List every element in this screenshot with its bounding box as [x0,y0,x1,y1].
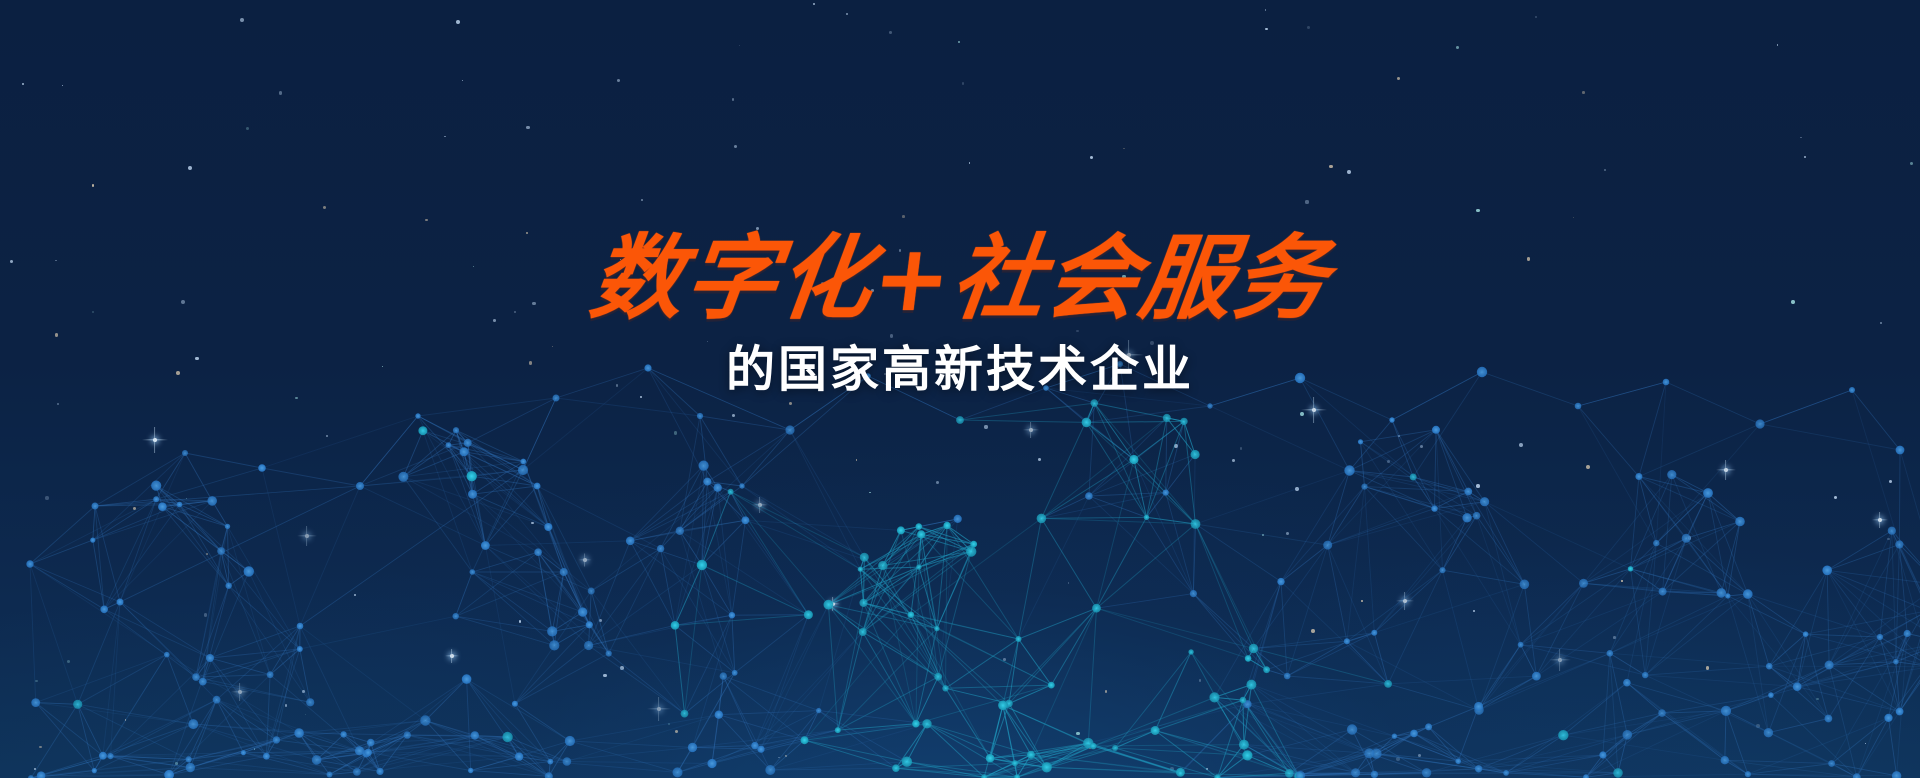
mesh-node [858,567,863,572]
mesh-node [956,416,964,424]
star-dot [526,126,530,130]
mesh-node [878,561,887,570]
mesh-node [468,768,473,773]
star-dot [958,41,960,43]
star-dot [456,20,460,24]
mesh-node [453,613,459,619]
mesh-node [1768,692,1774,698]
mesh-node [1764,728,1773,737]
mesh-node [1877,634,1883,640]
mesh-node [1682,534,1691,543]
mesh-node [1361,484,1367,490]
mesh-node [1042,762,1052,772]
mesh-node [916,523,923,530]
mesh-node [824,600,834,610]
mesh-node [1474,702,1483,711]
mesh-node [1575,403,1582,410]
mesh-node [673,767,683,777]
hero-copy-block: 数字化+社会服务 的国家高新技术企业 [0,232,1920,399]
mesh-node [244,566,254,576]
mesh-node [468,490,477,499]
mesh-node [462,674,472,684]
mesh-node [226,583,232,589]
mesh-node [100,606,108,614]
mesh-node [720,672,727,679]
mesh-node [751,742,758,749]
mesh-node [534,483,541,490]
mesh-node [703,478,711,486]
mesh-node [1558,730,1568,740]
mesh-node [1828,760,1835,767]
mesh-node [1239,740,1249,750]
mesh-node [1207,403,1212,408]
mesh-node [1144,515,1149,520]
mesh-node [1628,566,1633,571]
mesh-node [446,442,452,448]
mesh-node [1180,418,1187,425]
mesh-node [697,413,703,419]
mesh-node [1659,588,1667,596]
mesh-node [1623,679,1631,687]
mesh-node [327,772,333,778]
mesh-node [728,489,734,495]
mesh-node [415,413,420,418]
star-dot [969,162,971,164]
mesh-node [816,708,821,713]
mesh-node [1284,673,1291,680]
star-dot [1476,209,1479,212]
star-dot [1800,137,1801,138]
mesh-node [258,464,266,472]
mesh-node [626,537,635,546]
mesh-node [306,698,314,706]
mesh-node [90,538,95,543]
mesh-node [908,612,914,618]
mesh-node [1743,589,1753,599]
mesh-node [1384,680,1392,688]
star-dot [962,82,965,85]
mesh-node [376,768,383,775]
mesh-node [954,515,962,523]
star-dot [1307,26,1310,29]
mesh-node [464,439,472,447]
star-dot [1535,16,1537,18]
mesh-node [92,503,99,510]
mesh-node [860,553,869,562]
mesh-node [1364,748,1374,758]
mesh-node [182,450,188,456]
mesh-node [1635,473,1642,480]
mesh-node [1667,470,1676,479]
star-dot [739,45,740,46]
mesh-node [1371,771,1378,778]
mesh-node [534,548,542,556]
mesh-node [206,654,214,662]
star-dot [846,13,848,15]
mesh-node [1766,663,1773,670]
star-dot [813,3,815,5]
mesh-node [1464,488,1472,496]
mesh-node [186,763,195,772]
mesh-node [188,719,198,729]
mesh-node [199,678,207,686]
mesh-node [1793,682,1802,691]
mesh-node [515,752,523,760]
mesh-node [1410,730,1418,738]
mesh-node [739,483,744,488]
star-dot [444,136,446,138]
mesh-node [1607,650,1614,657]
mesh-node [164,652,170,658]
hero-banner: 数字化+社会服务 的国家高新技术企业 [0,0,1920,778]
mesh-node [1803,631,1809,637]
mesh-node [1579,579,1588,588]
mesh-node [225,524,230,529]
mesh-node [37,771,46,778]
mesh-node [547,626,557,636]
mesh-node [192,673,200,681]
mesh-node [297,646,303,652]
star-dot [22,83,24,85]
mesh-node [715,711,723,719]
mesh-node [26,560,33,567]
mesh-node [1358,439,1363,444]
mesh-node [177,502,183,508]
star-dot [641,199,643,201]
mesh-node [1893,659,1899,665]
star-dot [1910,162,1914,166]
mesh-node [502,732,512,742]
mesh-node [998,701,1008,711]
mesh-node [578,607,587,616]
mesh-node [398,472,408,482]
mesh-node [835,727,841,733]
mesh-node [1191,450,1200,459]
mesh-node [1240,697,1247,704]
mesh-node [1896,446,1905,455]
mesh-node [297,623,304,630]
mesh-node [560,568,568,576]
star-dot [188,166,192,170]
mesh-node [1112,745,1118,751]
star-dot [1456,46,1460,50]
mesh-node [1178,771,1184,777]
mesh-node [267,671,274,678]
mesh-node [1091,399,1099,407]
mesh-node [544,523,552,531]
mesh-node [1653,540,1659,546]
mesh-node [970,541,977,548]
mesh-node [153,496,159,502]
mesh-node [1263,666,1270,673]
page-title: 数字化+社会服务 [0,232,1920,326]
star-dot [1573,217,1574,218]
mesh-node [588,588,595,595]
network-mesh-graphic [0,358,1920,778]
mesh-node [966,546,976,556]
star-dot [1804,156,1807,159]
mesh-node [897,526,905,534]
star-dot [425,219,427,221]
mesh-node [512,701,518,707]
mesh-node [1825,715,1833,723]
mesh-node [742,516,750,524]
mesh-node [1888,527,1896,535]
star-dot [1329,165,1332,168]
mesh-node [1439,567,1445,573]
star-dot [62,85,63,86]
mesh-node [1016,636,1022,642]
mesh-node [420,715,430,725]
mesh-node [367,739,375,747]
mesh-node [547,759,553,765]
mesh-node [1277,578,1284,585]
mesh-node [1480,497,1489,506]
mesh-node [1895,540,1903,548]
mesh-node [1190,590,1197,597]
mesh-node [1425,723,1432,730]
mesh-node [1473,512,1481,520]
mesh-node [1503,770,1509,776]
star-dot [1090,156,1094,160]
mesh-node [1082,418,1092,428]
mesh-node [676,527,684,535]
mesh-node [453,427,459,433]
mesh-node [1323,541,1332,550]
star-dot [246,127,249,130]
star-dot [462,80,464,82]
mesh-node [99,752,107,760]
page-subtitle: 的国家高新技术企业 [0,340,1920,399]
mesh-node [470,569,476,575]
mesh-node [699,461,709,471]
mesh-node [92,768,97,773]
mesh-node [263,753,270,760]
mesh-node [1735,517,1745,527]
mesh-node [714,484,722,492]
mesh-node [916,564,921,569]
mesh-node [1344,638,1350,644]
mesh-node [151,481,161,491]
mesh-node [404,731,411,738]
mesh-node [1721,756,1729,764]
mesh-node [986,754,995,763]
mesh-node [549,640,559,650]
mesh-node [765,765,775,775]
mesh-node [1242,750,1252,760]
mesh-node [917,530,925,538]
mesh-node [1475,765,1482,772]
star-dot [617,79,620,82]
mesh-node [1048,682,1055,689]
mesh-node [1351,768,1360,777]
mesh-node [1245,655,1252,662]
mesh-node [518,465,528,475]
mesh-node [1884,714,1892,722]
mesh-node [1725,593,1730,598]
mesh-node [1623,730,1633,740]
mesh-node [1037,514,1047,524]
mesh-node [688,743,697,752]
mesh-node [117,599,124,606]
star-dot [240,18,244,22]
mesh-node [471,731,479,739]
mesh-node [902,757,912,767]
mesh-node [73,700,82,709]
mesh-node [1703,488,1713,498]
mesh-node [1090,743,1097,750]
star-dot [734,145,737,148]
mesh-node [467,471,477,481]
mesh-node [804,610,813,619]
mesh-node [1092,604,1101,613]
mesh-node [1520,580,1530,590]
mesh-node [785,425,794,434]
mesh-node [757,746,764,753]
mesh-node [934,626,939,631]
star-dot [1265,9,1267,11]
mesh-node [912,720,920,728]
mesh-node [1431,505,1437,511]
star-dot [279,91,283,95]
star-dot [1397,77,1400,80]
mesh-node [1658,709,1666,717]
star-dot [1777,44,1778,45]
mesh-node [1462,513,1471,522]
mesh-node [273,736,280,743]
mesh-node [859,628,867,636]
mesh-node [1755,419,1764,428]
mesh-node [1389,417,1394,422]
mesh-node [312,755,322,765]
mesh-node [1129,455,1138,464]
mesh-node [729,612,735,618]
mesh-node [107,753,113,759]
mesh-node [520,459,526,465]
star-dot [1265,28,1268,31]
mesh-node [1410,474,1417,481]
star-dot [1582,91,1585,94]
mesh-node [584,641,593,650]
mesh-node [1422,768,1431,777]
mesh-node [1822,566,1832,576]
mesh-node [356,482,364,490]
mesh-node [1518,642,1524,648]
mesh-node [1432,426,1440,434]
mesh-node [353,768,361,776]
mesh-node [1163,490,1169,496]
mesh-node [1344,465,1354,475]
mesh-node [1209,692,1219,702]
mesh-node [1012,760,1018,766]
star-dot [1305,200,1308,203]
mesh-node [1191,519,1201,529]
mesh-node [859,599,867,607]
mesh-node [213,696,221,704]
star-dot [92,184,94,186]
star-dot [732,98,735,101]
mesh-node [892,764,900,772]
mesh-node [606,650,612,656]
mesh-node [934,673,942,681]
mesh-node [1904,630,1911,637]
star-dot [1123,148,1125,150]
star-dot [1347,170,1351,174]
mesh-node [241,750,246,755]
mesh-node [1721,706,1731,716]
mesh-node [186,756,192,762]
mesh-node [563,757,572,766]
mesh-node [460,447,469,456]
mesh-node [364,749,372,757]
mesh-node [1246,680,1256,690]
mesh-node [657,545,664,552]
mesh-node [418,426,427,435]
mesh-node [1347,724,1357,734]
mesh-node [1532,672,1541,681]
mesh-node [294,728,304,738]
mesh-node [1717,588,1727,598]
mesh-node [1285,769,1294,778]
mesh-node [1455,758,1461,764]
star-dot [889,31,892,34]
mesh-node [481,541,490,550]
mesh-node [1896,708,1904,716]
mesh-node [1249,644,1258,653]
mesh-node [1745,771,1751,777]
mesh-node [1892,771,1901,778]
star-dot [1604,169,1606,171]
mesh-node [158,502,167,511]
mesh-node [586,621,593,628]
mesh-node [565,736,575,746]
mesh-node [207,496,217,506]
mesh-node [1825,661,1834,670]
mesh-node [1027,751,1035,759]
star-dot [902,215,905,218]
mesh-node [1151,726,1160,735]
mesh-node [1392,734,1397,739]
mesh-node [707,759,716,768]
mesh-node [942,685,948,691]
mesh-node [697,560,707,570]
mesh-node [1642,672,1648,678]
mesh-node [1163,414,1171,422]
mesh-node [732,670,738,676]
mesh-node [1613,768,1623,778]
mesh-node [1599,751,1606,758]
star-dot [323,206,327,210]
mesh-node [801,736,809,744]
mesh-node [681,710,689,718]
mesh-node [340,731,346,737]
mesh-node [922,719,931,728]
mesh-node [1188,649,1193,654]
mesh-node [943,522,950,529]
mesh-node [31,698,40,707]
mesh-node [217,547,225,555]
mesh-node [1371,630,1377,636]
mesh-node [1085,492,1093,500]
mesh-node [671,621,680,630]
